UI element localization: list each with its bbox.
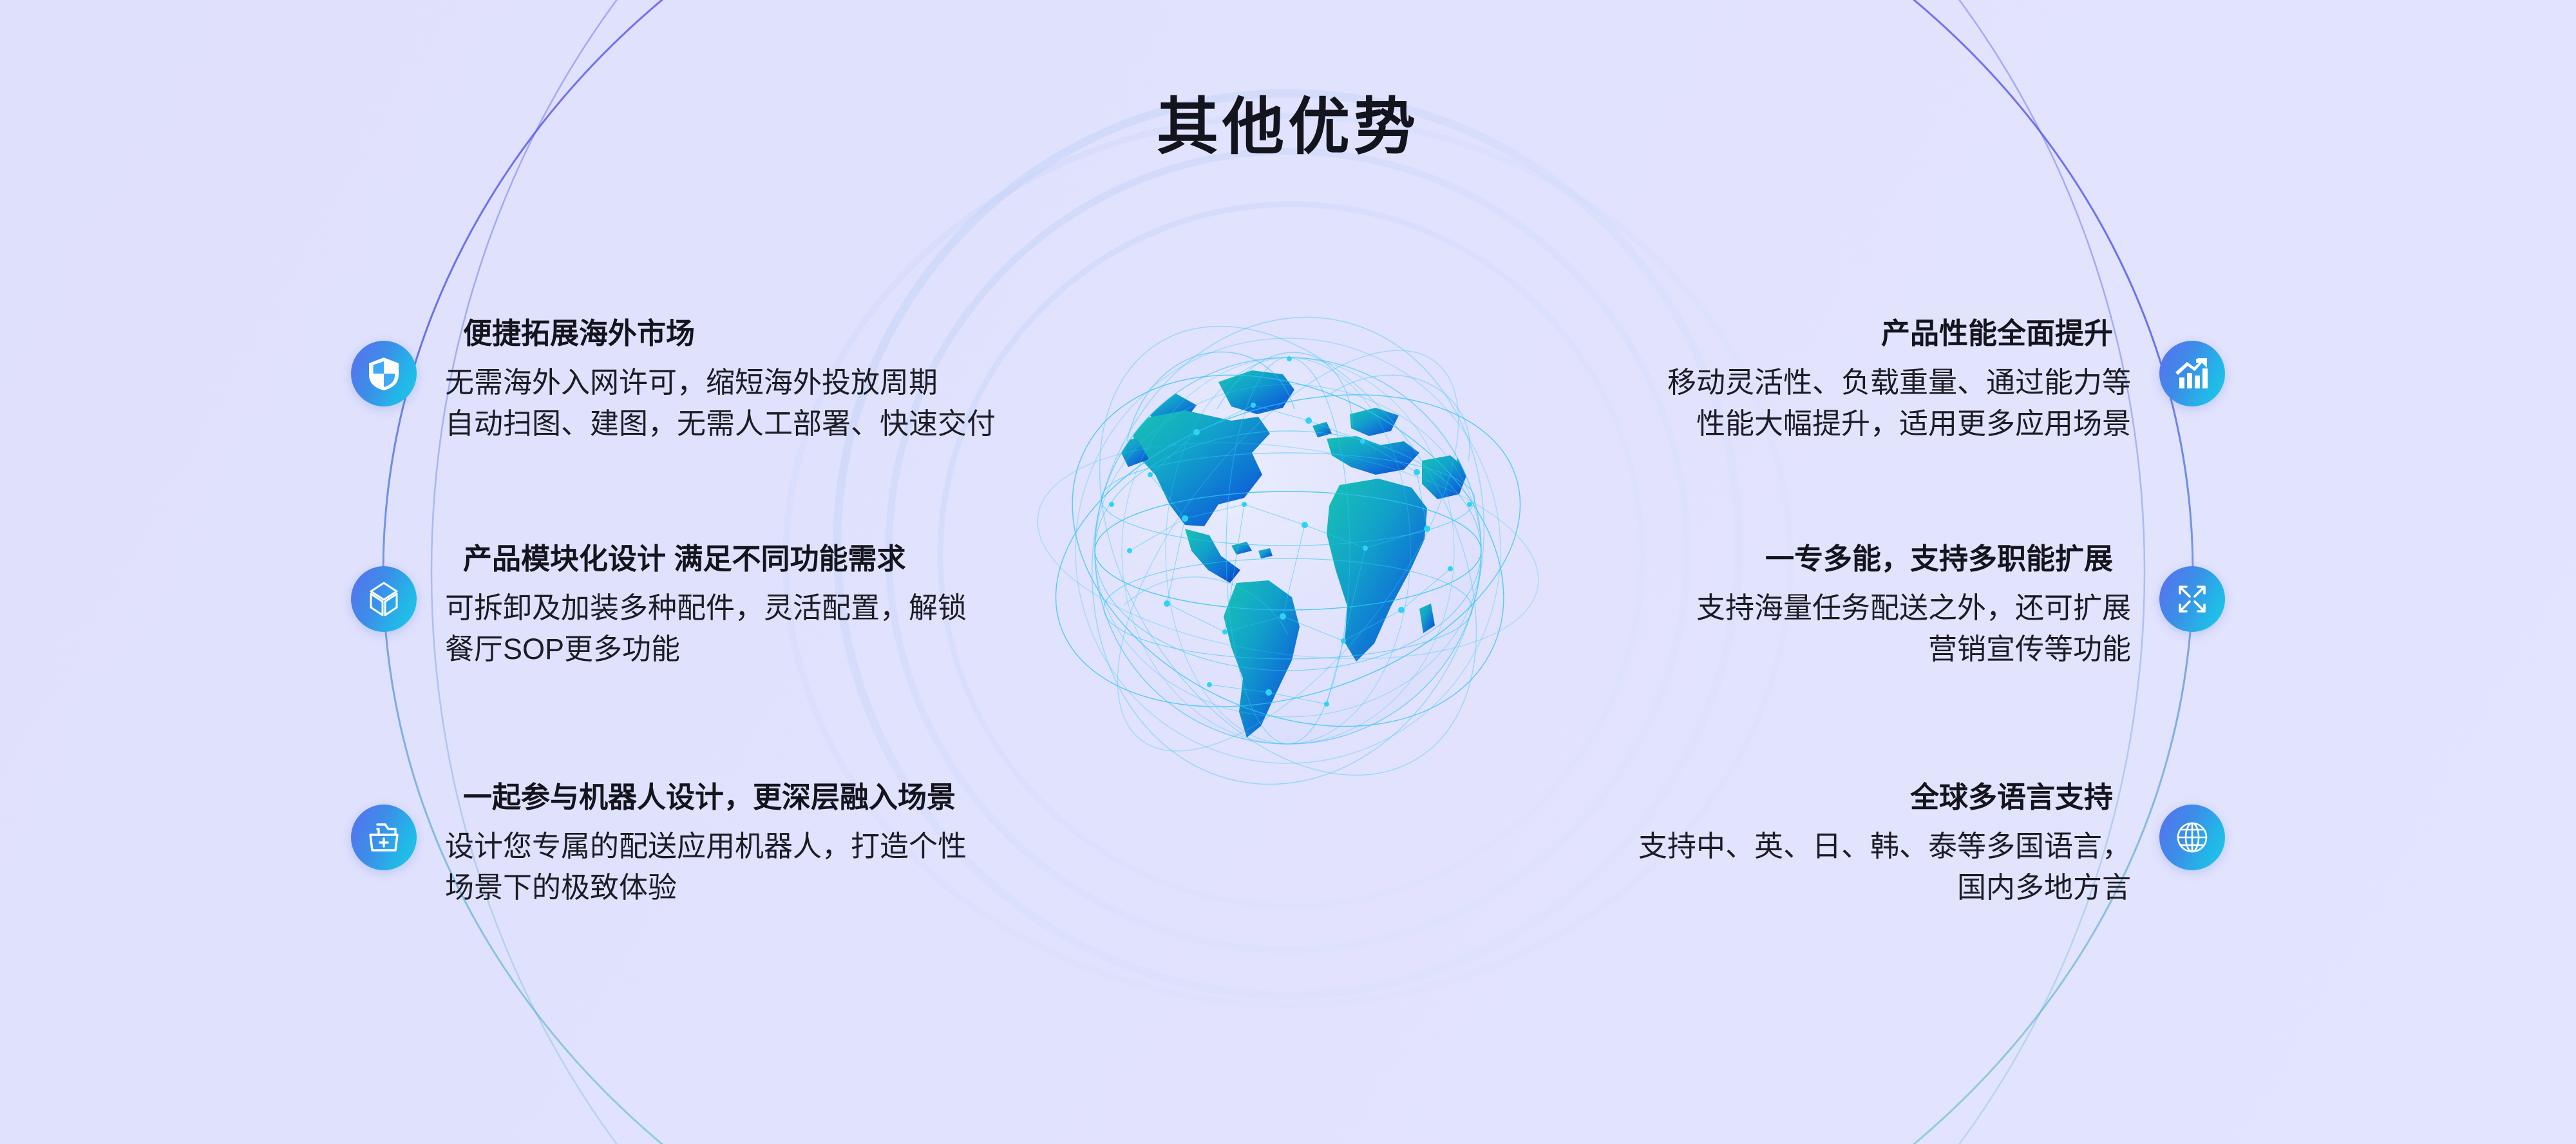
feature-line: 无需海外入网许可，缩短海外投放周期 — [445, 362, 996, 403]
feature-heading: 全球多语言支持 — [1638, 783, 2131, 812]
feature-item-right-3[interactable]: 全球多语言支持 支持中、英、日、韩、泰等多国语言， 国内多地方言 — [1638, 783, 2225, 908]
feature-heading: 一起参与机器人设计，更深层融入场景 — [445, 783, 967, 812]
growth-chart-icon — [2159, 341, 2225, 406]
feature-item-left-1[interactable]: 便捷拓展海外市场 无需海外入网许可，缩短海外投放周期 自动扫图、建图，无需人工部… — [351, 319, 996, 444]
feature-text-left-3: 一起参与机器人设计，更深层融入场景 设计您专属的配送应用机器人，打造个性 场景下… — [417, 783, 967, 908]
feature-line: 可拆卸及加装多种配件，灵活配置，解锁 — [445, 587, 967, 629]
feature-line: 性能大幅提升，适用更多应用场景 — [1667, 403, 2131, 444]
feature-heading: 产品性能全面提升 — [1667, 319, 2131, 348]
feature-text-left-2: 产品模块化设计 满足不同功能需求 可拆卸及加装多种配件，灵活配置，解锁 餐厅SO… — [417, 544, 967, 670]
feature-heading: 便捷拓展海外市场 — [445, 319, 996, 348]
advantages-section: 其他优势 — [0, 0, 2576, 1144]
feature-heading: 产品模块化设计 满足不同功能需求 — [445, 544, 967, 573]
feature-heading: 一专多能，支持多职能扩展 — [1696, 544, 2131, 573]
globe-icon — [2159, 805, 2225, 870]
feature-line: 设计您专属的配送应用机器人，打造个性 — [445, 826, 967, 867]
folder-plus-icon — [351, 805, 417, 870]
feature-item-left-3[interactable]: 一起参与机器人设计，更深层融入场景 设计您专属的配送应用机器人，打造个性 场景下… — [351, 783, 967, 908]
feature-line: 餐厅SOP更多功能 — [445, 629, 967, 670]
shield-icon — [351, 341, 417, 406]
feature-item-left-2[interactable]: 产品模块化设计 满足不同功能需求 可拆卸及加装多种配件，灵活配置，解锁 餐厅SO… — [351, 544, 967, 670]
feature-line: 支持海量任务配送之外，还可扩展 — [1696, 587, 2131, 629]
feature-text-left-1: 便捷拓展海外市场 无需海外入网许可，缩短海外投放周期 自动扫图、建图，无需人工部… — [417, 319, 996, 444]
feature-text-right-2: 一专多能，支持多职能扩展 支持海量任务配送之外，还可扩展 营销宣传等功能 — [1696, 544, 2159, 670]
feature-line: 支持中、英、日、韩、泰等多国语言， — [1638, 826, 2131, 867]
feature-line: 自动扫图、建图，无需人工部署、快速交付 — [445, 403, 996, 444]
feature-text-right-3: 全球多语言支持 支持中、英、日、韩、泰等多国语言， 国内多地方言 — [1638, 783, 2159, 908]
page-title: 其他优势 — [0, 97, 2576, 158]
feature-line: 场景下的极致体验 — [445, 867, 967, 908]
feature-line: 移动灵活性、负载重量、通过能力等 — [1667, 362, 2131, 403]
feature-text-right-1: 产品性能全面提升 移动灵活性、负载重量、通过能力等 性能大幅提升，适用更多应用场… — [1667, 319, 2159, 444]
earth-network-globe — [992, 248, 1584, 841]
feature-line: 国内多地方言 — [1638, 867, 2131, 908]
feature-line: 营销宣传等功能 — [1696, 629, 2131, 670]
expand-arrows-icon — [2159, 566, 2225, 632]
feature-item-right-2[interactable]: 一专多能，支持多职能扩展 支持海量任务配送之外，还可扩展 营销宣传等功能 — [1696, 544, 2225, 670]
cube-icon — [351, 566, 417, 632]
feature-item-right-1[interactable]: 产品性能全面提升 移动灵活性、负载重量、通过能力等 性能大幅提升，适用更多应用场… — [1667, 319, 2225, 444]
